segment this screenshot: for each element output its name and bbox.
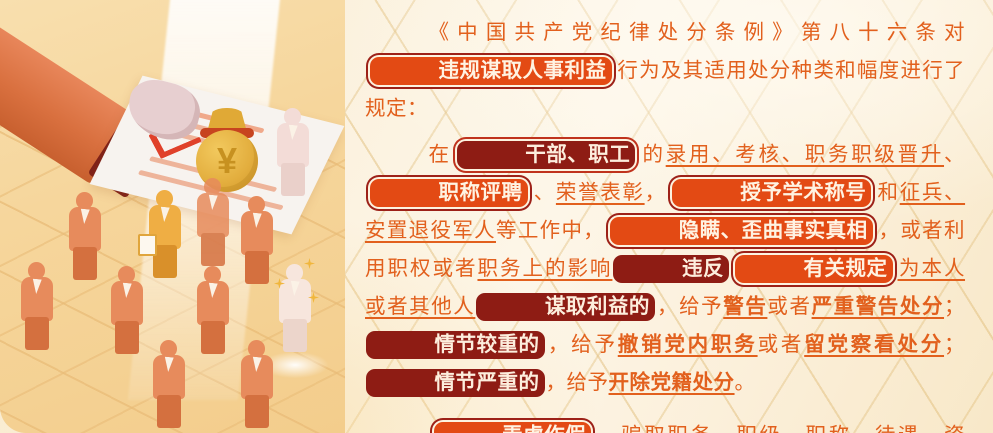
underlined-honors-commendation: 荣誉表彰 xyxy=(556,182,645,204)
tag-fraud-falsification: 弄虚作假 xyxy=(434,422,592,433)
paragraph-main-provision: 在干部、职工的录用、考核、职务职级晋升、职称评聘、荣誉表彰，授予学术称号和征兵、… xyxy=(365,136,965,402)
tag-violating: 违反 xyxy=(613,255,729,283)
tag-serious-circumstances: 情节严重的 xyxy=(366,369,545,397)
underlined-recruitment-appraisal-promotion: 录用、考核、职务职级晋升 xyxy=(666,144,944,166)
text-run: ； xyxy=(944,296,965,318)
tag-academic-title-award: 授予学术称号 xyxy=(672,179,872,207)
underlined-expulsion-from-party: 开除党籍处分 xyxy=(609,372,735,394)
text-run: 和 xyxy=(876,182,899,204)
text-run: 或者 xyxy=(767,296,811,318)
paragraph-fraud-provision: 弄虚作假，骗取职务、职级、职称、待遇、资格、学历、学位、荣誉、称号或者其他利益的… xyxy=(365,417,965,433)
underlined-party-probation-punishment: 留党察看处分 xyxy=(804,334,944,356)
figure-faded xyxy=(276,108,310,194)
tag-relevant-regulations: 有关规定 xyxy=(735,255,893,283)
text-run: ， xyxy=(596,425,621,433)
text-run: 。 xyxy=(735,372,756,394)
tag-relatively-serious-circumstances: 情节较重的 xyxy=(366,331,545,359)
infographic-card: ¥ xyxy=(0,0,993,433)
underlined-warning: 警告 xyxy=(723,296,767,318)
tag-concealing-distorting-facts: 隐瞒、歪曲事实真相 xyxy=(610,217,873,245)
text-run: 《中国共产党纪律处分条例》第八十六条对 xyxy=(429,22,965,44)
figure xyxy=(196,178,230,264)
underlined-removal-from-party-post: 撤销党内职务 xyxy=(618,334,758,356)
text-run: 的 xyxy=(640,144,665,166)
figure xyxy=(240,340,274,426)
text-run: 在 xyxy=(429,144,452,166)
illustration-panel: ¥ xyxy=(0,0,345,433)
figure xyxy=(152,340,186,426)
text-run: 、 xyxy=(944,144,965,166)
text-run: ， xyxy=(645,182,667,204)
text-run: 等工作中， xyxy=(496,220,605,242)
text-run: 或者 xyxy=(758,334,805,356)
regulation-text-body: 《中国共产党纪律处分条例》第八十六条对违规谋取人事利益行为及其适用处分种类和幅度… xyxy=(345,0,993,433)
tag-cadres-staff: 干部、职工 xyxy=(457,141,636,169)
figure xyxy=(196,266,230,352)
text-run: 、 xyxy=(533,182,556,204)
tag-title-evaluation: 职称评聘 xyxy=(370,179,528,207)
figure xyxy=(110,266,144,352)
text-run: ，给予 xyxy=(546,372,609,394)
figure xyxy=(20,262,54,348)
text-run: ，给予 xyxy=(546,334,618,356)
tag-seeking-benefit: 谋取利益的 xyxy=(476,293,655,321)
tag-violation-personnel-benefit: 违规谋取人事利益 xyxy=(370,57,612,85)
figure xyxy=(240,196,274,282)
figure-spotlit xyxy=(278,264,312,350)
underlined-serious-warning-punishment: 严重警告处分 xyxy=(812,296,944,318)
underlined-influence-of-office: 职务上的影响 xyxy=(477,258,612,280)
paragraph-intro: 《中国共产党纪律处分条例》第八十六条对违规谋取人事利益行为及其适用处分种类和幅度… xyxy=(365,14,965,128)
text-run: ； xyxy=(944,334,965,356)
text-run: ，给予 xyxy=(656,296,723,318)
figure-highlighted xyxy=(148,190,182,276)
figure xyxy=(68,192,102,278)
